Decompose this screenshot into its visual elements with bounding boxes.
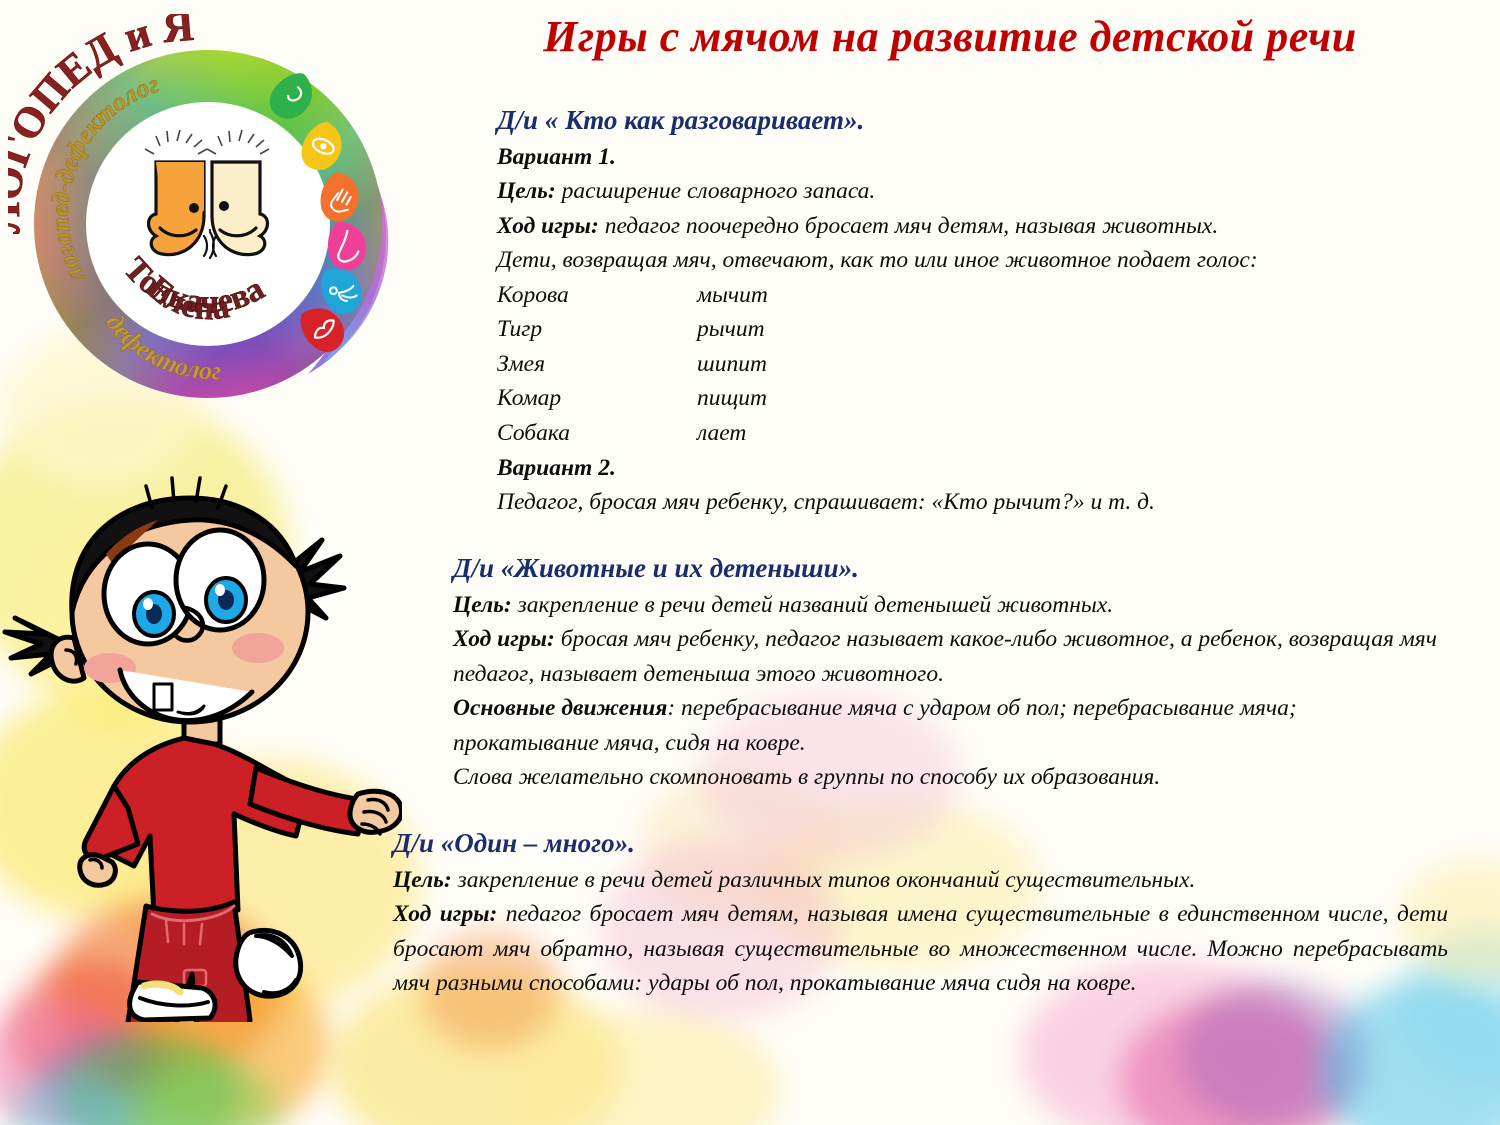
poster-canvas: ЛОГОПЕД и Я логопед-дефектолог дефектоло… <box>0 0 1500 1125</box>
section-odin-mnogo: Д/и «Один – много». Цель: закрепление в … <box>393 827 1448 1001</box>
animal-name: Корова <box>497 278 697 313</box>
line-text: Педагог, бросая мяч ребенку, спрашивает:… <box>497 489 1155 515</box>
paragraph-goal: Цель: закрепление в речи детей различных… <box>393 863 1448 898</box>
paragraph-text: бросая мяч ребенку, педагог называет как… <box>453 626 1437 687</box>
line-label: Вариант 1. <box>497 144 616 170</box>
line-label: Ход игры: <box>497 213 599 239</box>
section-kto-kak-razgovarivaet: Д/и « Кто как разговаривает». Вариант 1.… <box>497 104 1432 520</box>
teeth <box>154 684 172 710</box>
cheek-right <box>232 633 284 663</box>
animal-sound: рычит <box>697 312 768 347</box>
animal-sound: пищит <box>697 381 768 416</box>
line-procedure: Ход игры: педагог поочередно бросает мяч… <box>497 209 1432 244</box>
paragraph-text: закрепление в речи детей названий детены… <box>512 592 1113 618</box>
paragraph-text: закрепление в речи детей различных типов… <box>452 867 1196 893</box>
animal-sound: шипит <box>697 347 768 382</box>
line-text: педагог поочередно бросает мяч детям, на… <box>599 213 1218 239</box>
paragraph-label: Основные движения <box>453 695 667 721</box>
paragraph-goal: Цель: закрепление в речи детей названий … <box>453 588 1443 623</box>
animal-name: Тигр <box>497 312 697 347</box>
paragraph-label: Ход игры: <box>393 901 497 927</box>
section-heading: Д/и «Один – много». <box>393 827 1448 861</box>
animal-name: Собака <box>497 416 697 451</box>
line-text: Дети, возвращая мяч, отвечают, как то ил… <box>497 247 1258 273</box>
table-row: Корова мычит <box>497 278 768 313</box>
line-children-answer: Дети, возвращая мяч, отвечают, как то ил… <box>497 243 1432 278</box>
section-zhivotnye-i-ih-detenyshi: Д/и «Животные и их детеныши». Цель: закр… <box>453 552 1443 795</box>
paragraph-text: педагог бросает мяч детям, называя имена… <box>393 901 1448 996</box>
page-title: Игры с мячом на развитие детской речи <box>420 14 1480 60</box>
line-text: расширение словарного запаса. <box>556 178 876 204</box>
line-variant-2-text: Педагог, бросая мяч ребенку, спрашивает:… <box>497 485 1432 520</box>
table-row: Собака лает <box>497 416 768 451</box>
line-variant-2: Вариант 2. <box>497 451 1432 486</box>
animal-name: Змея <box>497 347 697 382</box>
line-label: Цель: <box>497 178 556 204</box>
table-row: Тигр рычит <box>497 312 768 347</box>
animal-sounds-table: Корова мычит Тигр рычит Змея шипит Комар… <box>497 278 768 451</box>
line-goal: Цель: расширение словарного запаса. <box>497 174 1432 209</box>
paragraph-text: Слова желательно скомпоновать в группы п… <box>453 764 1160 790</box>
line-variant-1: Вариант 1. <box>497 140 1432 175</box>
paragraph-procedure: Ход игры: бросая мяч ребенку, педагог на… <box>453 622 1443 691</box>
paragraph-label: Цель: <box>453 592 512 618</box>
paragraph-label: Ход игры: <box>453 626 555 652</box>
cartoon-girl-illustration <box>2 462 402 1022</box>
table-row: Комар пищит <box>497 381 768 416</box>
animal-sound: мычит <box>697 278 768 313</box>
paragraph-grouping-note: Слова желательно скомпоновать в группы п… <box>453 760 1443 795</box>
section-heading: Д/и «Животные и их детеныши». <box>453 552 1443 586</box>
animal-sound: лает <box>697 416 768 451</box>
line-label: Вариант 2. <box>497 455 616 481</box>
paragraph-procedure: Ход игры: педагог бросает мяч детям, наз… <box>393 897 1448 1001</box>
section-heading: Д/и « Кто как разговаривает». <box>497 104 1432 138</box>
animal-name: Комар <box>497 381 697 416</box>
paragraph-main-movements: Основные движения: перебрасывание мяча с… <box>453 691 1443 760</box>
table-row: Змея шипит <box>497 347 768 382</box>
logo: ЛОГОПЕД и Я логопед-дефектолог дефектоло… <box>8 14 408 414</box>
